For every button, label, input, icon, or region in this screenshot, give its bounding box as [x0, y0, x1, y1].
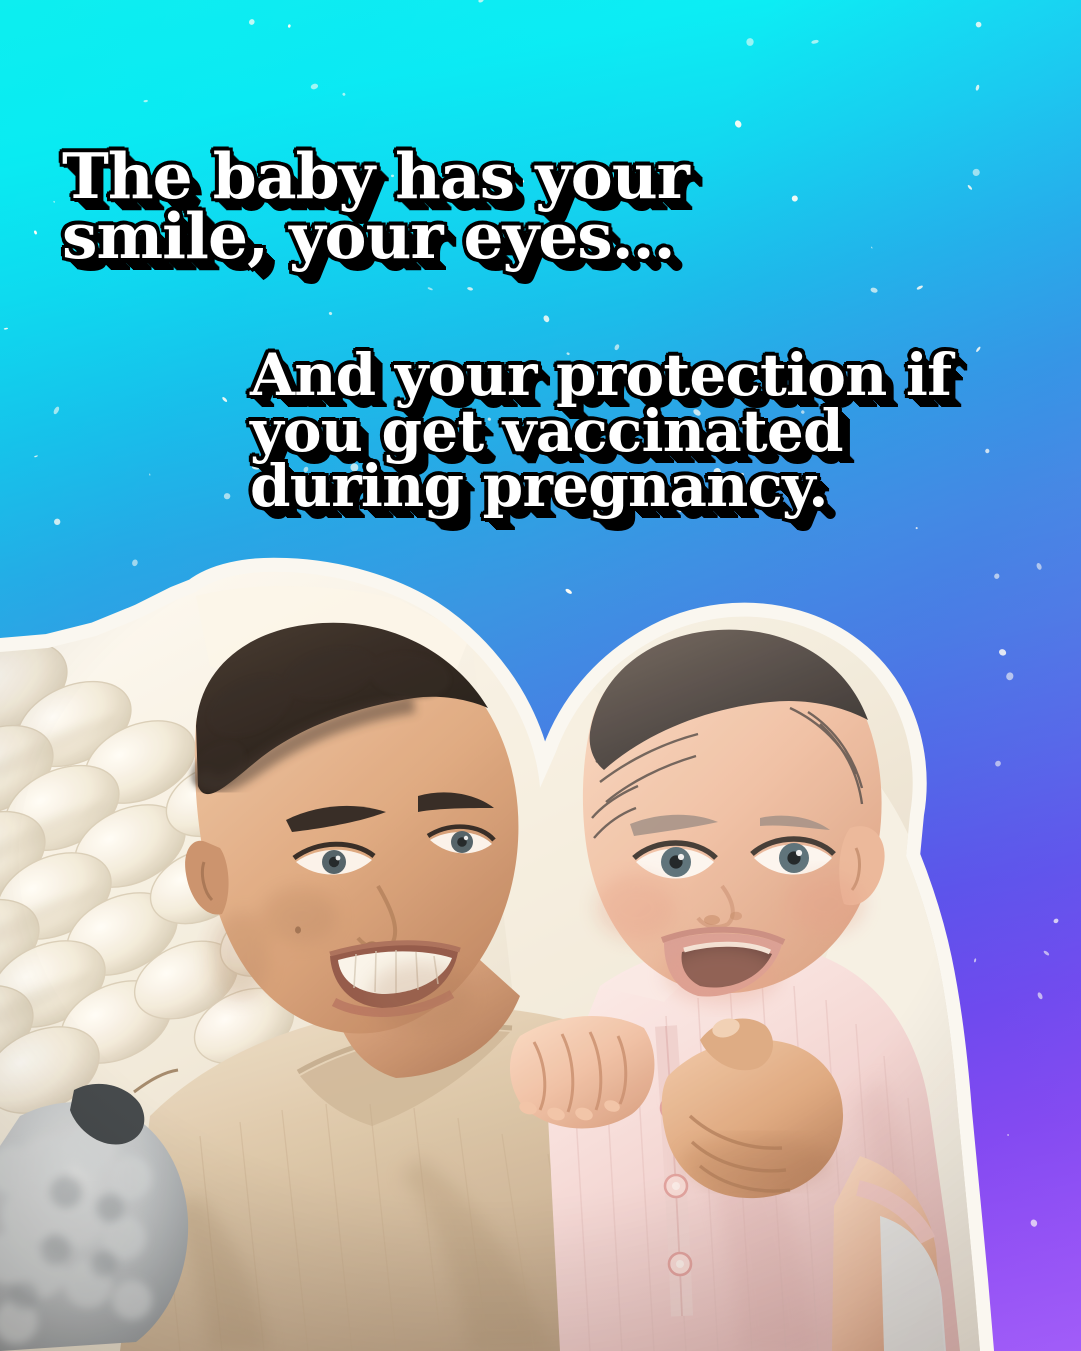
photo-collage — [0, 556, 1081, 1351]
headline-secondary: And your protection if you get vaccinate… — [250, 348, 951, 515]
photo-content — [0, 556, 1081, 1351]
poster-canvas: The baby has your smile, your eyes... An… — [0, 0, 1081, 1351]
headline-primary: The baby has your smile, your eyes... — [62, 146, 689, 267]
